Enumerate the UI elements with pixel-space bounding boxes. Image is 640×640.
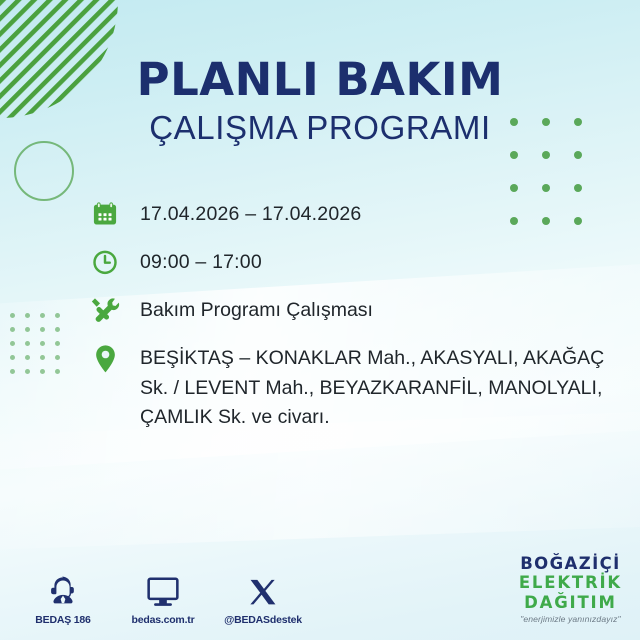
brand-line-bogazici: BOĞAZİÇİ — [519, 556, 622, 573]
detail-row-work-type: Bakım Programı Çalışması — [88, 296, 618, 328]
maintenance-date-range: 17.04.2026 – 17.04.2026 — [140, 200, 361, 230]
brand-slogan: "enerjimizle yanınızdayız" — [519, 615, 622, 624]
circle-outline-decoration — [14, 141, 74, 201]
footer-label-social: @BEDASdestek — [224, 614, 302, 626]
maintenance-work-type: Bakım Programı Çalışması — [140, 296, 373, 326]
footer-label-call-center: BEDAŞ 186 — [24, 614, 102, 626]
footer-item-social[interactable]: @BEDASdestek — [224, 570, 302, 626]
footer-contact-list: BEDAŞ 186 bedas.com.tr @BEDASdestek — [24, 570, 302, 626]
detail-row-location: BEŞİKTAŞ – KONAKLAR Mah., AKASYALI, AKAĞ… — [88, 344, 618, 433]
detail-row-time: 09:00 – 17:00 — [88, 248, 618, 280]
page-title: PLANLI BAKIM — [0, 56, 640, 103]
tools-icon — [88, 296, 122, 328]
maintenance-details: 17.04.2026 – 17.04.2026 09:00 – 17:00 — [88, 200, 618, 433]
poster-title-block: PLANLI BAKIM ÇALIŞMA PROGRAMI — [0, 56, 640, 147]
detail-row-date: 17.04.2026 – 17.04.2026 — [88, 200, 618, 232]
brand-line-elektrik: ELEKTRİK — [519, 575, 622, 592]
monitor-icon — [124, 570, 202, 608]
clock-icon — [88, 248, 122, 280]
calendar-icon — [88, 200, 122, 232]
page-subtitle: ÇALIŞMA PROGRAMI — [0, 109, 640, 147]
planned-maintenance-poster: PLANLI BAKIM ÇALIŞMA PROGRAMI — [0, 0, 640, 640]
footer-item-website[interactable]: bedas.com.tr — [124, 570, 202, 626]
maintenance-location: BEŞİKTAŞ – KONAKLAR Mah., AKASYALI, AKAĞ… — [140, 344, 618, 433]
dot-grid-decoration-left — [10, 313, 70, 383]
brand-logo: BOĞAZİÇİ ELEKTRİK DAĞITIM "enerjimizle y… — [519, 556, 622, 624]
brand-line-dagitim: DAĞITIM — [519, 595, 622, 612]
x-twitter-icon — [224, 570, 302, 608]
footer-item-call-center[interactable]: BEDAŞ 186 — [24, 570, 102, 626]
location-pin-icon — [88, 344, 122, 376]
footer-label-website: bedas.com.tr — [124, 614, 202, 626]
maintenance-time-range: 09:00 – 17:00 — [140, 248, 262, 278]
support-agent-icon — [24, 570, 102, 608]
